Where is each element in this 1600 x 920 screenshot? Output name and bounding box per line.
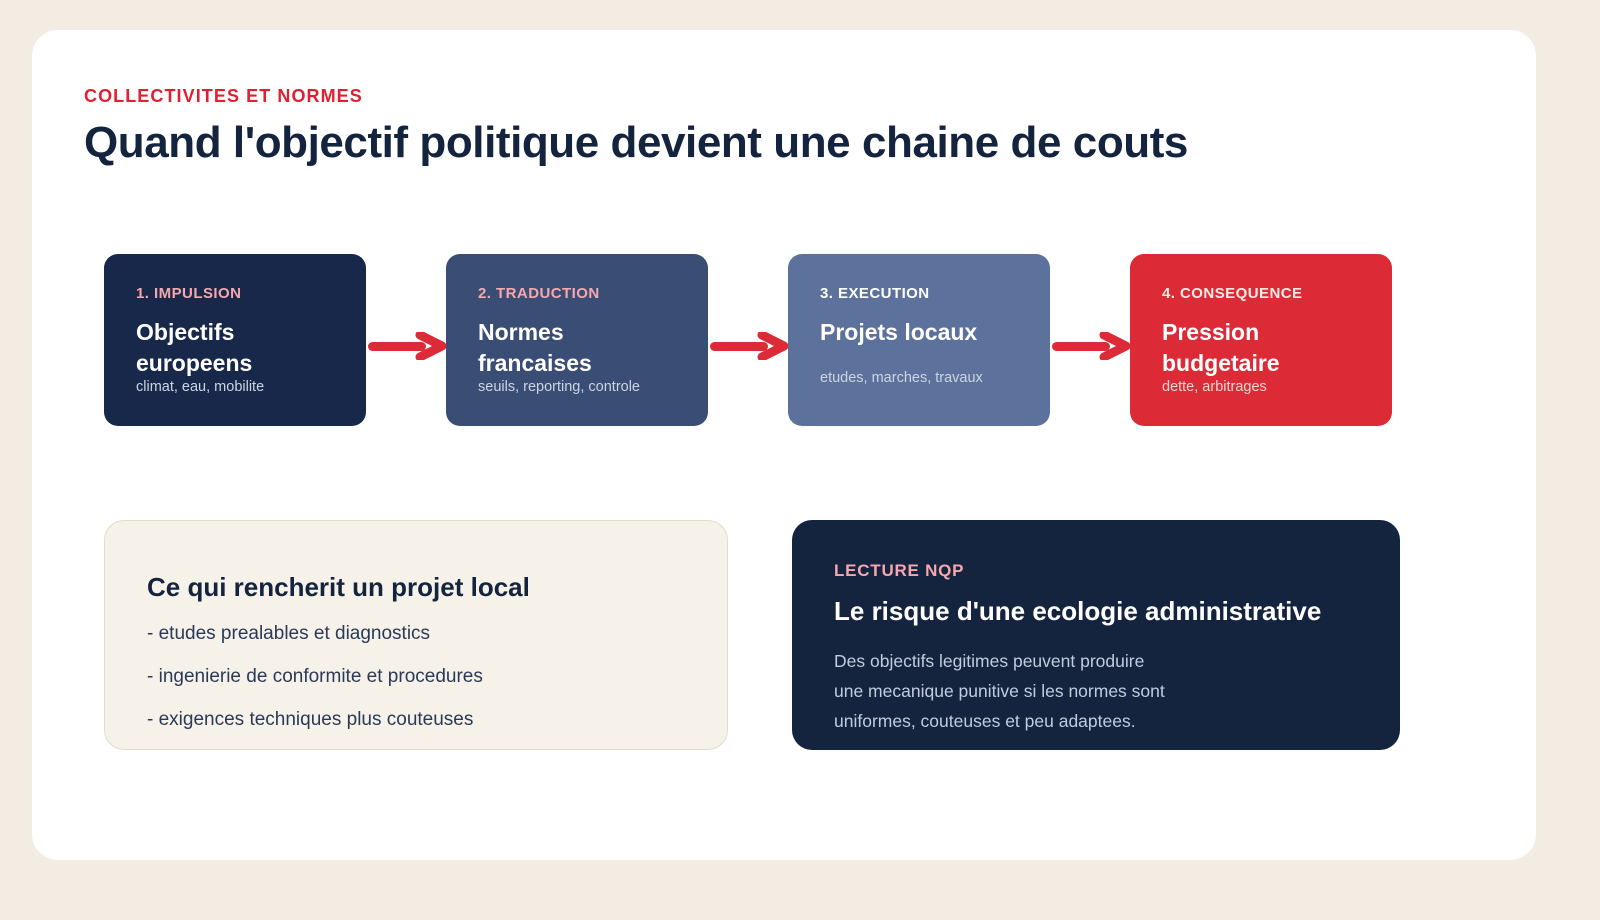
cost-drivers-panel: Ce qui rencherit un projet local - etude… [104, 520, 728, 750]
flow-step-title-line1: Pression [1162, 319, 1259, 345]
flow-step-title: Projets locaux [820, 317, 1024, 348]
reading-panel-body-line3: uniformes, couteuses et peu adaptees. [834, 711, 1136, 731]
cost-drivers-title: Ce qui rencherit un projet local [147, 573, 687, 602]
flow-step-execution[interactable]: 3. EXECUTION Projets locaux etudes, marc… [788, 254, 1050, 426]
flow-step-label: 2. TRADUCTION [478, 286, 682, 301]
reading-panel-title: Le risque d'une ecologie administrative [834, 597, 1366, 626]
flow-step-subtitle: etudes, marches, travaux [820, 370, 1024, 387]
list-item: - ingenierie de conformite et procedures [147, 667, 687, 686]
flow-step-title-line1: Normes [478, 319, 564, 345]
flow-step-subtitle: seuils, reporting, controle [478, 379, 682, 396]
flow-step-title: Normes francaises [478, 317, 682, 379]
reading-panel-label: LECTURE NQP [834, 562, 1366, 579]
reading-panel: LECTURE NQP Le risque d'une ecologie adm… [792, 520, 1400, 750]
flow-step-subtitle: climat, eau, mobilite [136, 379, 340, 396]
flow-step-title-line2: europeens [136, 350, 252, 376]
list-item: - etudes prealables et diagnostics [147, 624, 687, 643]
list-item: - exigences techniques plus couteuses [147, 710, 687, 729]
flow-step-title-line1: Objectifs [136, 319, 234, 345]
slide-card: COLLECTIVITES ET NORMES Quand l'objectif… [32, 30, 1536, 860]
flow-step-consequence[interactable]: 4. CONSEQUENCE Pression budgetaire dette… [1130, 254, 1392, 426]
flow-step-label: 1. IMPULSION [136, 286, 340, 301]
flow-step-title-line2: francaises [478, 350, 592, 376]
reading-panel-body-line2: une mecanique punitive si les normes son… [834, 681, 1165, 701]
reading-panel-body: Des objectifs legitimes peuvent produire… [834, 646, 1366, 736]
arrow-right-icon-2 [710, 332, 790, 360]
flow-step-traduction[interactable]: 2. TRADUCTION Normes francaises seuils, … [446, 254, 708, 426]
arrow-right-icon-3 [1052, 332, 1132, 360]
page-title: Quand l'objectif politique devient une c… [84, 118, 1188, 168]
flow-step-title-line2: budgetaire [1162, 350, 1280, 376]
process-flow: 1. IMPULSION Objectifs europeens climat,… [104, 254, 1472, 426]
eyebrow-label: COLLECTIVITES ET NORMES [84, 86, 363, 107]
flow-step-title: Objectifs europeens [136, 317, 340, 379]
flow-step-impulsion[interactable]: 1. IMPULSION Objectifs europeens climat,… [104, 254, 366, 426]
arrow-right-icon-1 [368, 332, 448, 360]
flow-step-subtitle: dette, arbitrages [1162, 379, 1366, 396]
flow-step-label: 4. CONSEQUENCE [1162, 286, 1366, 301]
flow-step-title: Pression budgetaire [1162, 317, 1366, 379]
flow-step-label: 3. EXECUTION [820, 286, 1024, 301]
reading-panel-body-line1: Des objectifs legitimes peuvent produire [834, 651, 1144, 671]
